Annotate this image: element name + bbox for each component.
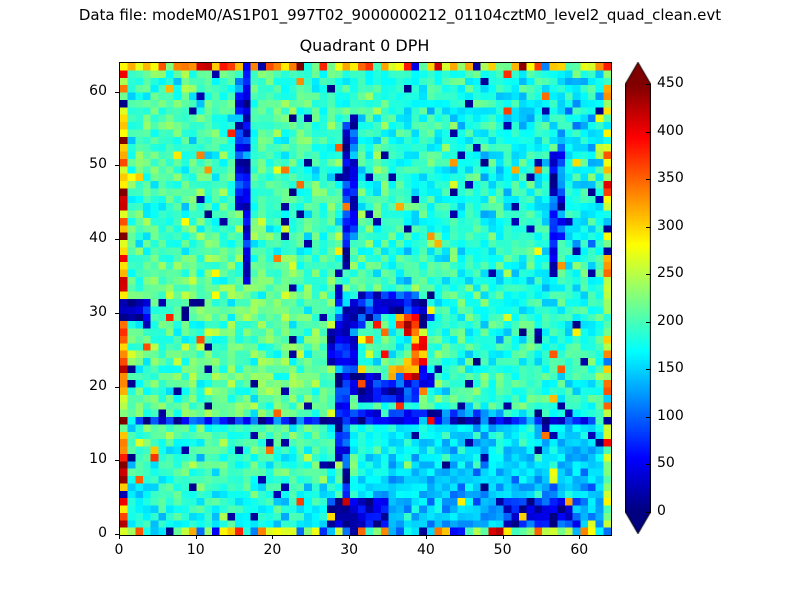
data-file-suptitle: Data file: modeM0/AS1P01_997T02_90000002…: [0, 6, 800, 24]
colorbar-tick-mark: [646, 417, 651, 418]
colorbar-tick-mark: [646, 369, 651, 370]
y-tick-mark: [115, 387, 119, 388]
y-tick-label: 30: [67, 304, 107, 320]
y-tick-mark: [115, 239, 119, 240]
y-tick-label: 40: [67, 230, 107, 246]
y-tick-label: 0: [67, 525, 107, 541]
colorbar-tick-label: 450: [657, 75, 684, 91]
colorbar-tick-label: 250: [657, 265, 684, 281]
heatmap-plot-area: [119, 62, 612, 536]
x-tick-mark: [196, 535, 197, 539]
x-tick-mark: [119, 535, 120, 539]
colorbar-tick-label: 50: [657, 455, 675, 471]
colorbar-tick-mark: [646, 464, 651, 465]
y-tick-mark: [115, 165, 119, 166]
x-tick-mark: [426, 535, 427, 539]
colorbar-tick-label: 0: [657, 503, 666, 519]
y-tick-label: 50: [67, 156, 107, 172]
colorbar-tick-mark: [646, 132, 651, 133]
x-tick-mark: [579, 535, 580, 539]
x-tick-label: 60: [559, 542, 599, 558]
y-tick-label: 60: [67, 83, 107, 99]
colorbar-tick-label: 100: [657, 408, 684, 424]
y-tick-mark: [115, 92, 119, 93]
y-tick-label: 10: [67, 451, 107, 467]
colorbar-tick-mark: [646, 227, 651, 228]
colorbar: [625, 62, 651, 534]
colorbar-tick-label: 350: [657, 170, 684, 186]
y-tick-mark: [115, 313, 119, 314]
colorbar-tick-mark: [646, 179, 651, 180]
x-tick-mark: [503, 535, 504, 539]
y-tick-label: 20: [67, 378, 107, 394]
colorbar-tick-mark: [646, 84, 651, 85]
heatmap-image: [120, 63, 611, 535]
x-tick-label: 30: [329, 542, 369, 558]
plot-title: Quadrant 0 DPH: [119, 36, 610, 55]
colorbar-tick-label: 400: [657, 123, 684, 139]
colorbar-tick-label: 200: [657, 313, 684, 329]
colorbar-tick-label: 300: [657, 218, 684, 234]
colorbar-tick-mark: [646, 512, 651, 513]
x-tick-label: 0: [99, 542, 139, 558]
colorbar-tick-mark: [646, 322, 651, 323]
x-tick-mark: [272, 535, 273, 539]
colorbar-tick-label: 150: [657, 360, 684, 376]
figure-canvas: Data file: modeM0/AS1P01_997T02_90000002…: [0, 0, 800, 600]
x-tick-label: 10: [176, 542, 216, 558]
x-tick-label: 50: [483, 542, 523, 558]
colorbar-gradient: [625, 62, 651, 534]
colorbar-tick-mark: [646, 274, 651, 275]
x-tick-label: 20: [252, 542, 292, 558]
x-tick-mark: [349, 535, 350, 539]
x-tick-label: 40: [406, 542, 446, 558]
y-tick-mark: [115, 460, 119, 461]
y-tick-mark: [115, 534, 119, 535]
